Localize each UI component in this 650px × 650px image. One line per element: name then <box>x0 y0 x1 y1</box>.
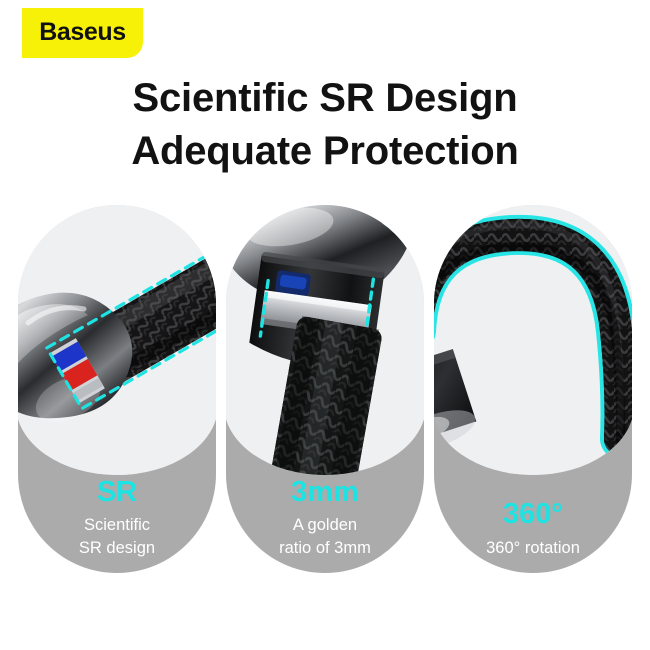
feature-panel-sr: SR Scientific SR design <box>18 205 216 573</box>
caption-line-1-3mm: A golden <box>232 514 418 536</box>
feature-panel-360: 360° 360° rotation <box>434 205 632 573</box>
page-title: Scientific SR Design Adequate Protection <box>0 72 650 178</box>
accent-label-sr: SR <box>24 476 210 509</box>
caption-line-2-sr: SR design <box>24 537 210 559</box>
braided-cable-loop-image <box>434 205 632 475</box>
caption-block-360: 360° 360° rotation <box>434 498 632 559</box>
headline-line-2: Adequate Protection <box>0 125 650 178</box>
caption-line-1-sr: Scientific <box>24 514 210 536</box>
headline-line-1: Scientific SR Design <box>0 72 650 125</box>
product-photo-sr <box>18 205 216 475</box>
product-photo-3mm <box>226 205 424 475</box>
brand-logo-badge: Baseus <box>22 8 143 58</box>
cable-connector-strain-relief-image <box>18 205 216 475</box>
cable-connector-collar-image <box>226 205 424 475</box>
caption-line-2-3mm: ratio of 3mm <box>232 537 418 559</box>
caption-block-sr: SR Scientific SR design <box>18 476 216 559</box>
brand-name: Baseus <box>39 20 126 45</box>
product-photo-360 <box>434 205 632 475</box>
caption-block-3mm: 3mm A golden ratio of 3mm <box>226 476 424 559</box>
caption-line-1-360: 360° rotation <box>440 537 626 559</box>
accent-label-360: 360° <box>440 498 626 531</box>
feature-panel-row: SR Scientific SR design <box>18 205 632 573</box>
accent-label-3mm: 3mm <box>232 476 418 509</box>
feature-panel-3mm: 3mm A golden ratio of 3mm <box>226 205 424 573</box>
